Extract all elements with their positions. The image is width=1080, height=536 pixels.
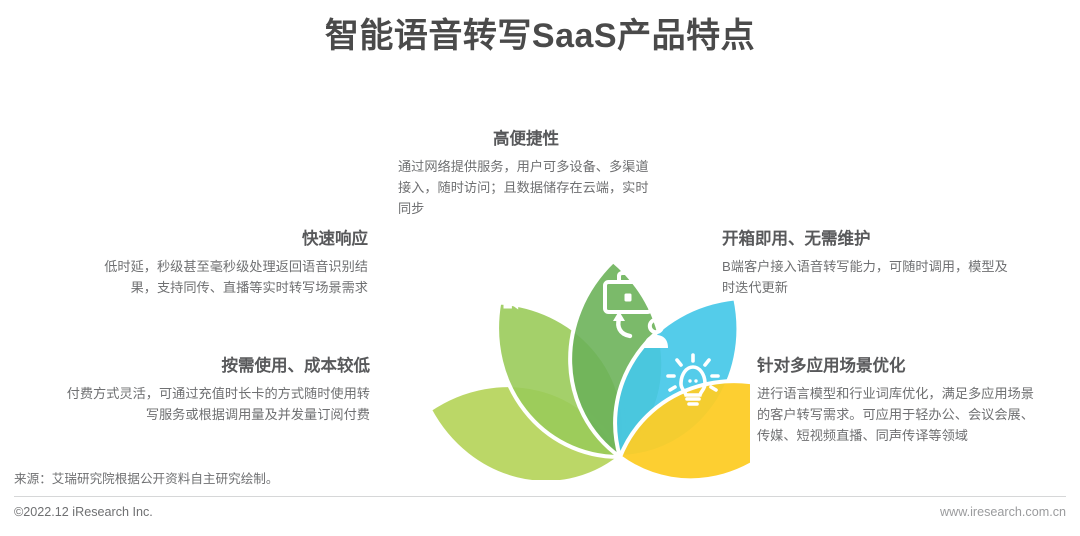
petal-diagram-svg (330, 195, 750, 480)
feature-body-convenience: 通过网络提供服务，用户可多设备、多渠道接入，随时访问；且数据储存在云端，实时同步 (398, 156, 654, 219)
feature-body-multi-scenario: 进行语言模型和行业词库优化，满足多应用场景的客户转写需求。可应用于轻办公、会议会… (757, 383, 1047, 446)
feature-block-convenience: 高便捷性 通过网络提供服务，用户可多设备、多渠道接入，随时访问；且数据储存在云端… (398, 128, 654, 219)
feature-heading-multi-scenario: 针对多应用场景优化 (757, 355, 1047, 377)
petal-diagram (330, 195, 750, 480)
feature-body-on-demand-cost: 付费方式灵活，可通过充值时长卡的方式随时使用转写服务或根据调用量及并发量订阅付费 (60, 383, 370, 425)
footer-divider (14, 496, 1066, 497)
feature-heading-convenience: 高便捷性 (398, 128, 654, 150)
feature-body-fast-response: 低时延，秒级甚至毫秒级处理返回语音识别结果，支持同传、直播等实时转写场景需求 (88, 256, 368, 298)
feature-body-ready-to-use: B端客户接入语音转写能力，可随时调用，模型及时迭代更新 (722, 256, 1012, 298)
feature-block-multi-scenario: 针对多应用场景优化 进行语言模型和行业词库优化，满足多应用场景的客户转写需求。可… (757, 355, 1047, 446)
source-note: 来源：艾瑞研究院根据公开资料自主研究绘制。 (14, 470, 278, 488)
feature-heading-on-demand-cost: 按需使用、成本较低 (60, 355, 370, 377)
website-url[interactable]: www.iresearch.com.cn (940, 505, 1066, 519)
infographic-page: 智能语音转写SaaS产品特点 (0, 0, 1080, 536)
top-edge-bar (0, 0, 1080, 3)
feature-block-ready-to-use: 开箱即用、无需维护 B端客户接入语音转写能力，可随时调用，模型及时迭代更新 (722, 228, 1012, 298)
feature-block-on-demand-cost: 按需使用、成本较低 付费方式灵活，可通过充值时长卡的方式随时使用转写服务或根据调… (60, 355, 370, 425)
page-title: 智能语音转写SaaS产品特点 (0, 14, 1080, 58)
feature-heading-ready-to-use: 开箱即用、无需维护 (722, 228, 1012, 250)
stopwatch-dollar-icon (367, 355, 413, 407)
share-users-icon (503, 245, 568, 310)
feature-heading-fast-response: 快速响应 (88, 228, 368, 250)
speed-gauge-icon (408, 270, 460, 329)
feature-block-fast-response: 快速响应 低时延，秒级甚至毫秒级处理返回语音识别结果，支持同传、直播等实时转写场… (88, 228, 368, 298)
copyright-text: ©2022.12 iResearch Inc. (14, 505, 153, 519)
